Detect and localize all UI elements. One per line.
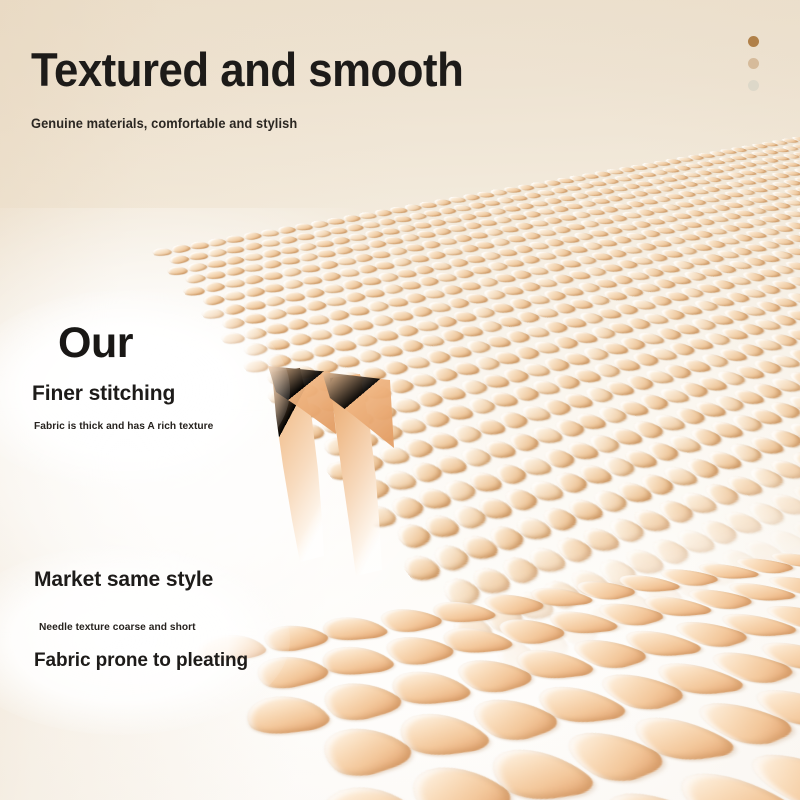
market-subdetail: Fabric prone to pleating [34,650,248,672]
comparison-ours: Our Finer stitching Fabric is thick and … [58,322,219,432]
ours-detail: Fabric is thick and has A rich texture [34,420,213,432]
ours-headline: Finer stitching [32,382,219,406]
market-detail: Needle texture coarse and short [39,621,242,633]
market-headline: Market same style [34,568,248,592]
ours-eyebrow: Our [58,322,219,365]
comparison-market: Market same style Needle texture coarse … [34,568,248,672]
poster-root: Textured and smooth Genuine materials, c… [0,0,800,800]
